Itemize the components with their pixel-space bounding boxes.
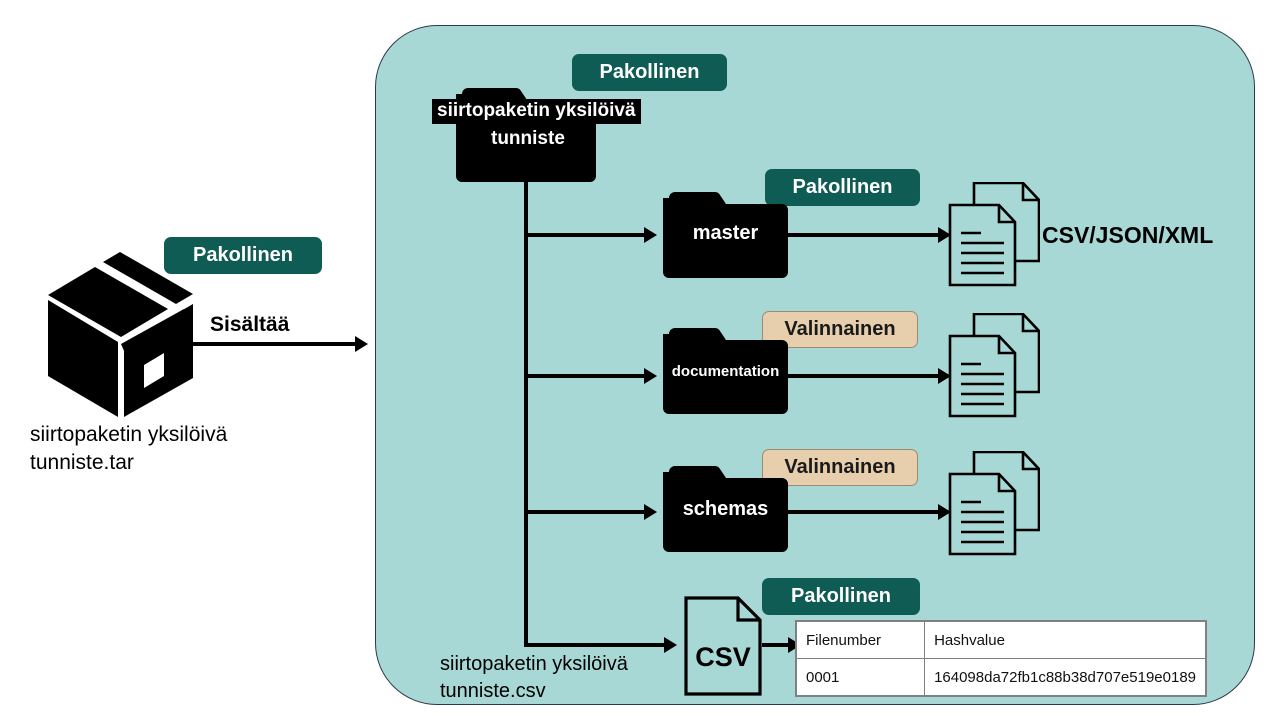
- badge-label: Valinnainen: [784, 318, 895, 341]
- arrowhead-branch-master: [644, 227, 657, 243]
- arrow-master-to-docs: [788, 233, 938, 237]
- badge-master-required: Pakollinen: [765, 169, 920, 206]
- documents-icon-master: [948, 182, 1040, 287]
- badge-label: Pakollinen: [791, 585, 891, 608]
- badge-label: Pakollinen: [792, 176, 892, 199]
- csv-caption-line2: tunniste.csv: [440, 679, 546, 703]
- folder-schemas: schemas: [663, 460, 788, 552]
- arrow-csv-to-table: [762, 643, 790, 647]
- arrow-schemas-to-docs: [788, 510, 938, 514]
- tree-trunk-line: [524, 182, 528, 647]
- csv-caption-line1: siirtopaketin yksilöivä: [440, 652, 628, 676]
- folder-schemas-label: schemas: [663, 498, 788, 520]
- badge-label: Valinnainen: [784, 456, 895, 479]
- table-cell-hashvalue: 164098da72fb1c88b38d707e519e0189: [925, 659, 1206, 696]
- folder-master: master: [663, 186, 788, 278]
- arrowhead-branch-schemas: [644, 504, 657, 520]
- arrowhead-branch-csv: [664, 637, 677, 653]
- table-header-filenumber: Filenumber: [797, 622, 925, 659]
- folder-master-label: master: [663, 222, 788, 244]
- table-cell-filenumber: 0001: [797, 659, 925, 696]
- folder-documentation: documentation: [663, 322, 788, 414]
- csv-icon-label: CSV: [684, 642, 762, 673]
- package-caption-line2: tunniste.tar: [30, 450, 134, 475]
- branch-line-schemas: [524, 510, 644, 514]
- badge-package-required: Pakollinen: [164, 237, 322, 274]
- branch-line-csv: [524, 643, 664, 647]
- arrow-documentation-to-docs: [788, 374, 938, 378]
- folder-documentation-label: documentation: [663, 364, 788, 381]
- documents-icon-documentation: [948, 313, 1040, 418]
- diagram-canvas: Pakollinen Sisältää siirtopaketin yksilö…: [0, 0, 1280, 720]
- branch-line-master: [524, 233, 644, 237]
- badge-label: Pakollinen: [599, 61, 699, 84]
- table-row: 0001 164098da72fb1c88b38d707e519e0189: [797, 659, 1206, 696]
- badge-csv-required: Pakollinen: [762, 578, 920, 615]
- arrow-label-sisaltaa: Sisältää: [210, 312, 289, 337]
- table-header-hashvalue: Hashvalue: [925, 622, 1206, 659]
- folder-root-label-line1: siirtopaketin yksilöivä: [432, 99, 641, 124]
- arrow-package-to-container: [190, 342, 355, 346]
- arrowhead-package-to-container: [355, 336, 368, 352]
- branch-line-documentation: [524, 374, 644, 378]
- output-label-master: CSV/JSON/XML: [1042, 222, 1213, 250]
- hash-table: Filenumber Hashvalue 0001 164098da72fb1c…: [795, 620, 1207, 697]
- csv-file-icon: CSV: [684, 596, 762, 696]
- documents-icon-schemas: [948, 451, 1040, 556]
- package-caption-line1: siirtopaketin yksilöivä: [30, 422, 227, 447]
- table-header-row: Filenumber Hashvalue: [797, 622, 1206, 659]
- arrowhead-branch-documentation: [644, 368, 657, 384]
- package-box-icon: [48, 252, 193, 417]
- badge-label: Pakollinen: [193, 244, 293, 267]
- folder-root-label-line2: tunniste: [491, 128, 565, 151]
